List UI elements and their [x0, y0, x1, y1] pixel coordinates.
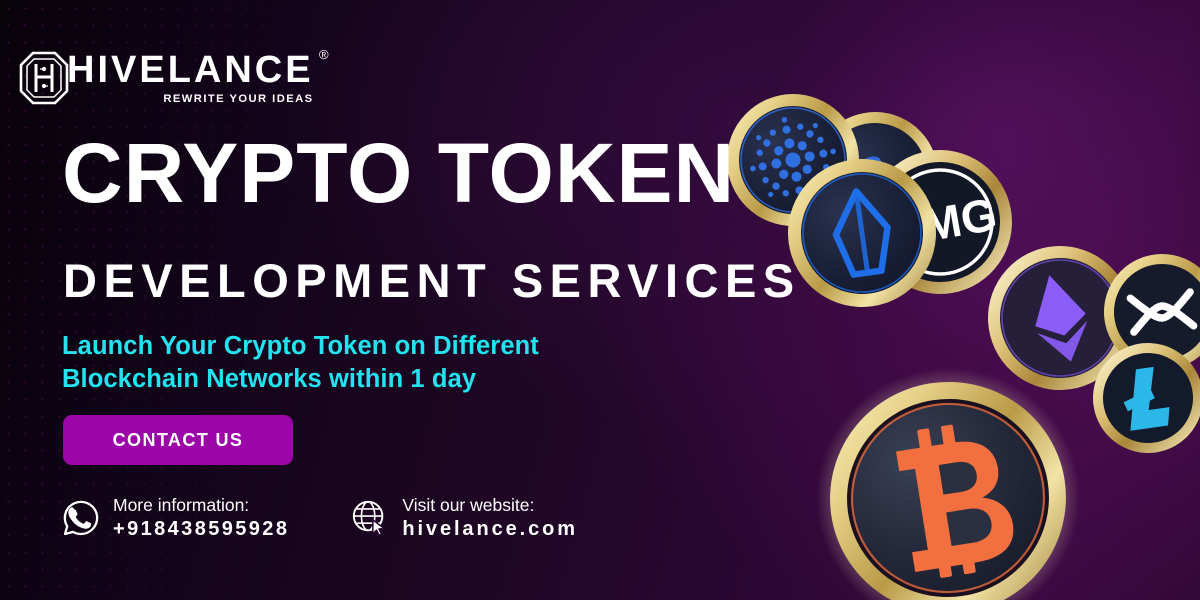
website-label: Visit our website: — [402, 494, 578, 516]
contact-phone[interactable]: More information: +918438595928 — [62, 494, 289, 542]
hero-tagline-line2: Blockchain Networks within 1 day — [62, 363, 539, 396]
coin-hidden: 3 — [797, 97, 953, 253]
hivelance-logo[interactable]: HIVELANCE ® REWRITE YOUR IDEAS — [18, 48, 314, 106]
contact-bar: More information: +918438595928 Visit ou… — [62, 494, 578, 542]
phone-label: More information: — [113, 494, 289, 516]
coin-bitcoin — [797, 349, 1098, 600]
svg-text:3: 3 — [856, 146, 893, 200]
coin-eos — [778, 149, 945, 316]
whatsapp-phone-icon — [62, 499, 100, 537]
coin-litecoin — [1086, 336, 1200, 460]
background-glow — [740, 0, 1200, 350]
coin-cardano — [715, 82, 872, 239]
logo-tagline: REWRITE YOUR IDEAS — [67, 93, 314, 105]
page-subtitle: DEVELOPMENT SERVICES — [63, 256, 801, 306]
svg-text:OMG: OMG — [884, 187, 1001, 257]
hexagon-h-monogram-icon — [18, 50, 70, 106]
coin-xrp — [1098, 248, 1200, 375]
globe-cursor-icon — [351, 499, 389, 537]
registered-trademark-icon: ® — [319, 47, 329, 62]
logo-wordmark: HIVELANCE — [67, 48, 314, 92]
contact-us-button[interactable]: CONTACT US — [63, 415, 293, 465]
page-title: CRYPTO TOKEN — [62, 131, 735, 215]
hero-tagline: Launch Your Crypto Token on Different Bl… — [62, 330, 539, 396]
crypto-token-banner: 3 OMG — [0, 0, 1200, 600]
website-url[interactable]: hivelance.com — [402, 516, 578, 542]
contact-website[interactable]: Visit our website: hivelance.com — [351, 494, 578, 542]
hero-tagline-line1: Launch Your Crypto Token on Different — [62, 330, 539, 363]
phone-number[interactable]: +918438595928 — [113, 516, 289, 542]
coin-omg: OMG — [857, 139, 1024, 306]
coin-ethereum — [973, 231, 1148, 406]
